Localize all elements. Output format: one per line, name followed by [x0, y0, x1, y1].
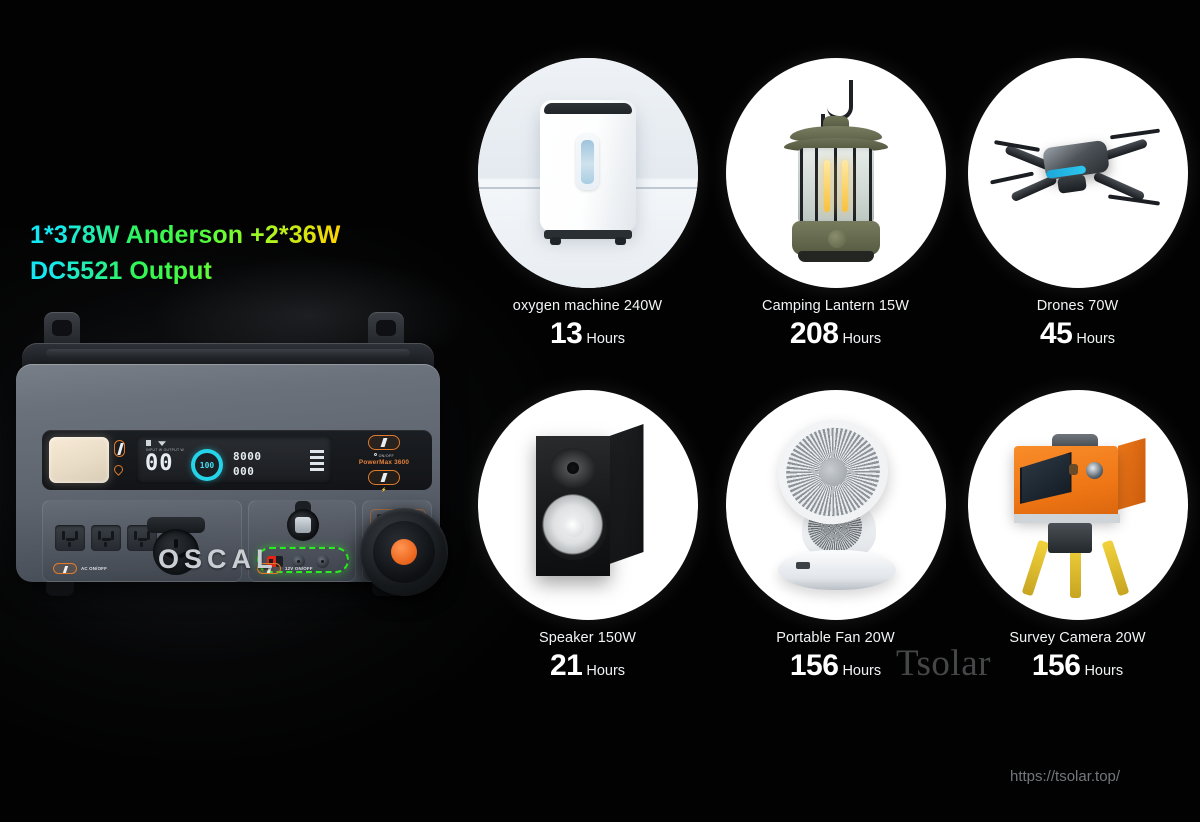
grid-item-oxygen-machine: oxygen machine 240W 13Hours	[470, 58, 705, 351]
speaker-hours: 21	[550, 649, 582, 682]
drone-hours: 45	[1040, 317, 1072, 350]
brand-logo-text: OSCAL	[158, 544, 278, 575]
secondary-power-button[interactable]	[368, 470, 400, 485]
control-panel: INPUT W OUTPUT W 00 100 8000 000 ON/OFF	[42, 430, 432, 490]
lcd-readout-line-1: 8000	[233, 450, 262, 465]
location-pin-icon	[112, 463, 125, 476]
wheel-hub	[391, 539, 417, 565]
lcd-readout: 8000 000	[233, 450, 262, 480]
ac-onoff-pill-icon	[53, 563, 77, 574]
oxygen-machine-image	[478, 58, 698, 288]
portable-fan-unit: Hours	[842, 663, 881, 679]
ac-socket-1[interactable]	[55, 525, 85, 551]
battery-gauge: 100	[191, 449, 223, 481]
website-url-watermark: https://tsolar.top/	[1010, 768, 1120, 785]
survey-camera-hours: 156	[1032, 649, 1081, 682]
survey-camera-image	[968, 390, 1188, 620]
grid-item-portable-fan: Portable Fan 20W 156Hours	[718, 390, 953, 683]
bluetooth-icon	[146, 440, 151, 446]
light-power-icon	[114, 440, 125, 457]
ac-socket-2[interactable]	[91, 525, 121, 551]
appliance-runtime-grid: oxygen machine 240W 13Hours Camping Lant…	[470, 58, 1200, 738]
grid-item-camping-lantern: Camping Lantern 15W 208Hours	[718, 58, 953, 351]
camping-lantern-image	[726, 58, 946, 288]
station-wheel	[360, 508, 448, 596]
oxygen-machine-runtime: 13Hours	[470, 317, 705, 351]
dc5521-port-2[interactable]	[316, 555, 329, 568]
grid-item-speaker: Speaker 150W 21Hours	[470, 390, 705, 683]
ac-onoff-label: AC ON/OFF	[81, 566, 107, 571]
ac-onoff-switch[interactable]: AC ON/OFF	[53, 563, 107, 574]
oxygen-machine-label: oxygen machine 240W	[470, 298, 705, 314]
survey-camera-runtime: 156Hours	[960, 649, 1195, 683]
speaker-runtime: 21Hours	[470, 649, 705, 683]
speaker-unit: Hours	[586, 663, 625, 679]
lcd-left-digits: 00	[145, 453, 174, 475]
camping-lantern-hours: 208	[790, 317, 839, 350]
model-name-label: PowerMax 3600	[342, 459, 426, 466]
camping-lantern-label: Camping Lantern 15W	[718, 298, 953, 314]
drone-unit: Hours	[1076, 331, 1115, 347]
drone-runtime: 45Hours	[960, 317, 1195, 351]
lcd-display: INPUT W OUTPUT W 00 100 8000 000	[136, 436, 332, 484]
portable-fan-hours: 156	[790, 649, 839, 682]
main-power-sublabel: ON/OFF	[342, 453, 426, 458]
headline-line-1: 1*378W Anderson +2*36W	[30, 221, 340, 249]
main-power-controls: ON/OFF PowerMax 3600 ⚡	[342, 435, 426, 493]
panel-side-icons	[114, 440, 128, 474]
power-station-product-image: INPUT W OUTPUT W 00 100 8000 000 ON/OFF	[8, 312, 458, 632]
grid-item-drone: Drones 70W 45Hours	[960, 58, 1195, 351]
headline-line-2: DC5521 Output	[30, 254, 450, 290]
survey-camera-unit: Hours	[1084, 663, 1123, 679]
speaker-label: Speaker 150W	[470, 630, 705, 646]
lcd-readout-line-2: 000	[233, 465, 262, 480]
survey-camera-label: Survey Camera 20W	[960, 630, 1195, 646]
lcd-level-bars	[310, 450, 324, 474]
brand-watermark: Tsolar	[896, 642, 991, 685]
page-headline: 1*378W Anderson +2*36W DC5521 Output	[30, 218, 450, 289]
drone-image	[968, 58, 1188, 288]
camping-lantern-unit: Hours	[842, 331, 881, 347]
lcd-status-icons	[146, 440, 166, 446]
portable-fan-image	[726, 390, 946, 620]
battery-percent-value: 100	[195, 453, 219, 477]
car-cigarette-port[interactable]	[287, 509, 319, 541]
camping-lantern-runtime: 208Hours	[718, 317, 953, 351]
dc12v-onoff-label: 12V ON/OFF	[285, 566, 313, 571]
main-power-button[interactable]	[368, 435, 400, 450]
led-lamp-panel	[49, 437, 109, 483]
oxygen-machine-unit: Hours	[586, 331, 625, 347]
speaker-image	[478, 390, 698, 620]
wifi-icon	[158, 440, 166, 446]
grid-item-survey-camera: Survey Camera 20W 156Hours	[960, 390, 1195, 683]
drone-label: Drones 70W	[960, 298, 1195, 314]
oxygen-machine-hours: 13	[550, 317, 582, 350]
secondary-power-sublabel: ⚡	[342, 487, 426, 493]
